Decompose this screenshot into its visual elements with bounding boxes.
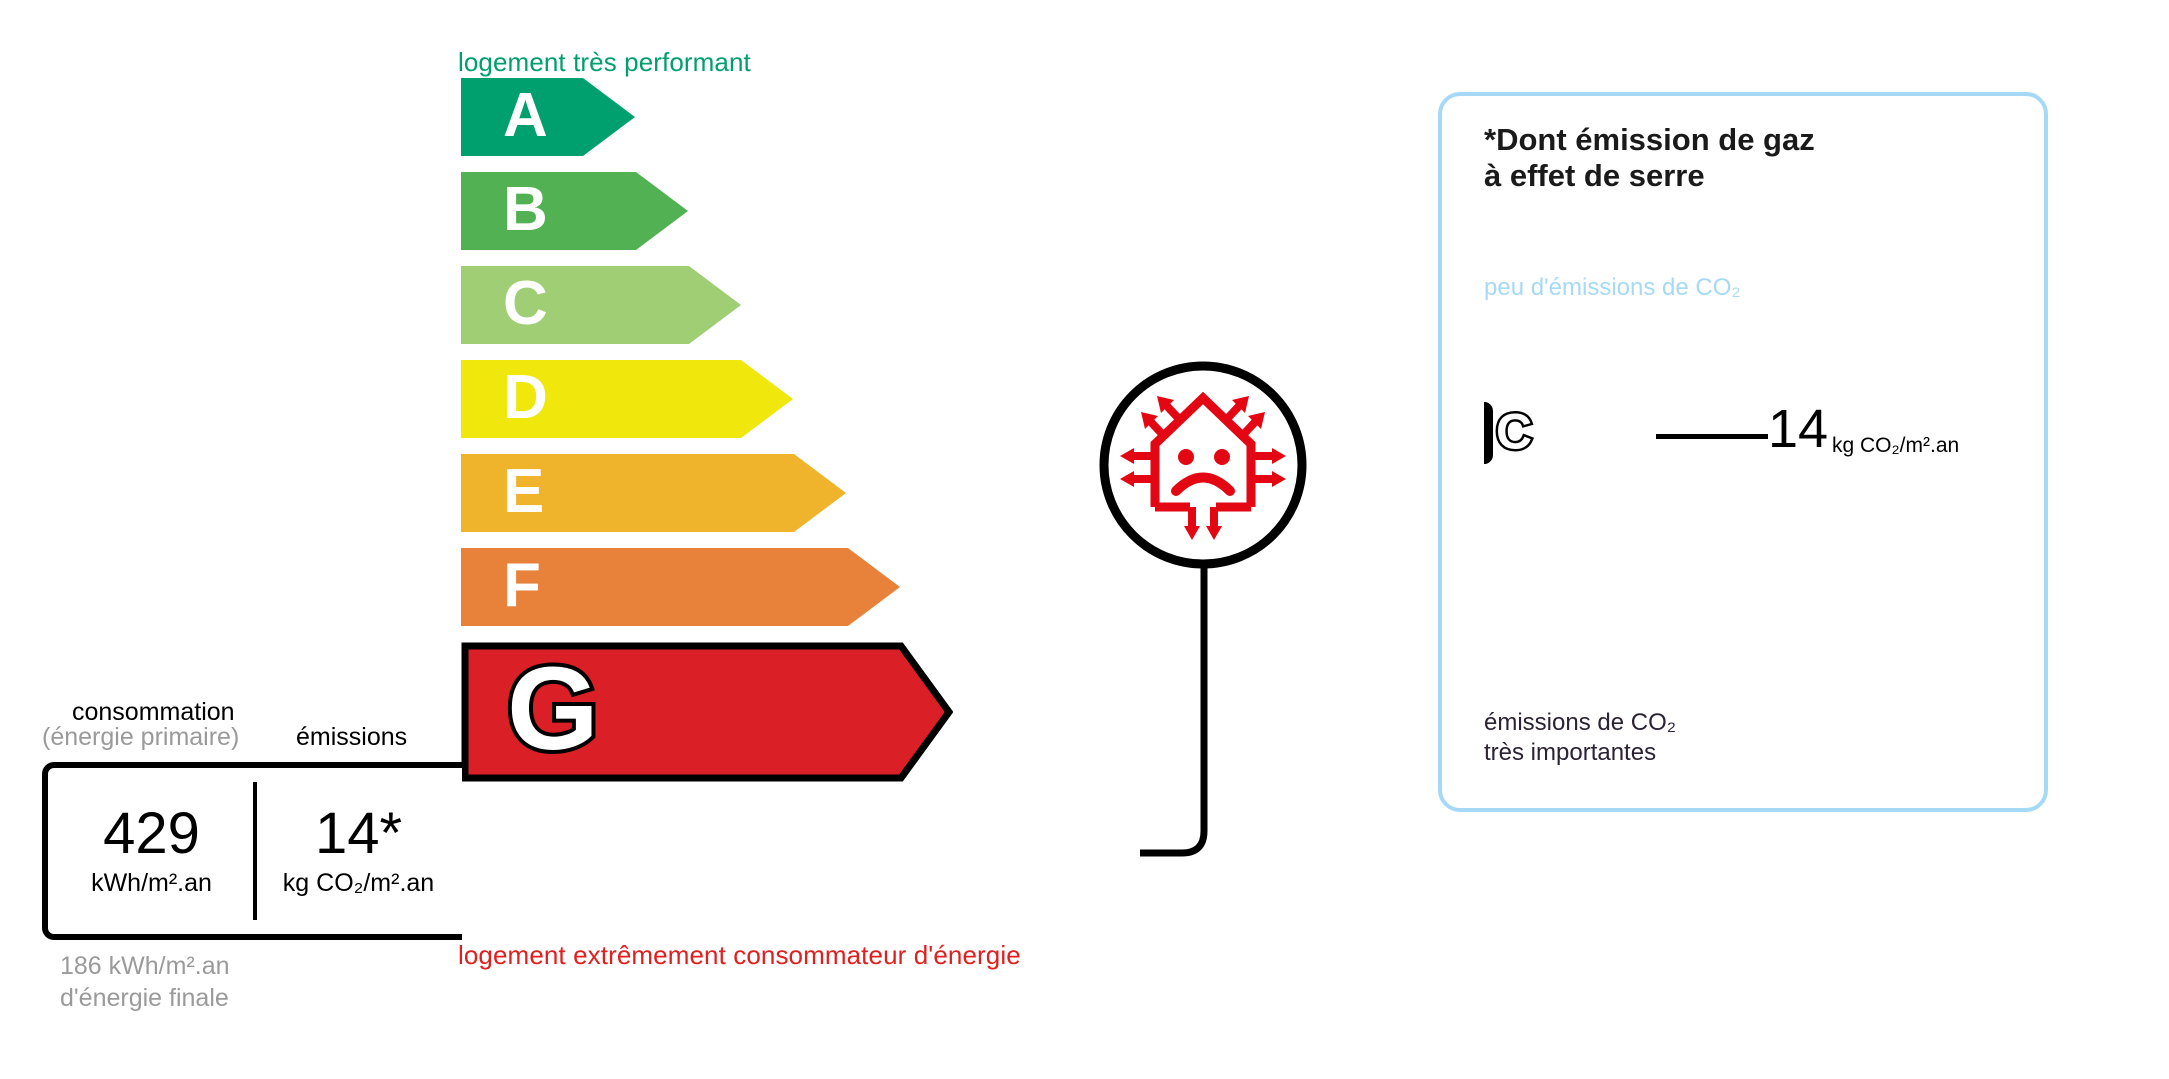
ghg-bar-g: G bbox=[1484, 612, 1814, 652]
emissions-header-label: émissions bbox=[296, 723, 407, 752]
ghg-value-unit: kg CO₂/m².an bbox=[1832, 434, 1959, 458]
ghg-panel-title: *Dont émission de gaz à effet de serre bbox=[1484, 122, 1815, 193]
ghg-bar-letter: B bbox=[1498, 359, 1520, 389]
final-energy-footnote-line2: d'énergie finale bbox=[60, 982, 230, 1014]
energy-bar-e: E bbox=[461, 454, 846, 532]
energy-bar-g: G bbox=[461, 642, 953, 782]
energy-bar-a: A bbox=[461, 78, 635, 156]
ghg-bar-letter: F bbox=[1498, 569, 1516, 599]
energy-bar-letter: G bbox=[507, 643, 599, 775]
energy-bar-d: D bbox=[461, 360, 793, 438]
energy-bar-letter: A bbox=[503, 85, 548, 147]
final-energy-footnote: 186 kWh/m².an d'énergie finale bbox=[60, 950, 230, 1014]
final-energy-footnote-line1: 186 kWh/m².an bbox=[60, 950, 230, 982]
emissions-value: 14* bbox=[315, 805, 402, 863]
primary-energy-cell: 429 kWh/m².an bbox=[48, 768, 255, 934]
ghg-bar-letter: D bbox=[1498, 475, 1520, 505]
scale-bottom-caption: logement extrêmement consommateur d'éner… bbox=[458, 940, 1021, 971]
ghg-bar-letter: E bbox=[1498, 522, 1518, 552]
energy-bar-letter: E bbox=[503, 461, 544, 523]
ghg-bar-d: D bbox=[1484, 471, 1716, 511]
ghg-leader-line bbox=[1656, 434, 1768, 439]
ghg-bottom-caption: émissions de CO₂ très importantes bbox=[1484, 708, 1676, 768]
primary-energy-unit: kWh/m².an bbox=[91, 869, 212, 898]
ghg-bar-f: F bbox=[1484, 565, 1784, 605]
energy-bar-letter: B bbox=[503, 179, 548, 241]
ghg-bar-letter: A bbox=[1498, 312, 1520, 342]
consumption-value-box: 429 kWh/m².an 14* kg CO₂/m².an bbox=[42, 762, 462, 940]
ghg-bar-e: E bbox=[1484, 518, 1752, 558]
energy-bar-shape bbox=[461, 78, 635, 156]
energy-bar-b: B bbox=[461, 172, 688, 250]
ghg-panel-title-line2: à effet de serre bbox=[1484, 158, 1815, 194]
ghg-top-caption: peu d'émissions de CO₂ bbox=[1484, 274, 1741, 302]
energy-bar-letter: F bbox=[503, 555, 541, 617]
ghg-bar-shape bbox=[1484, 402, 1493, 464]
ghg-value: 14 bbox=[1768, 402, 1828, 456]
ghg-bar-c: C bbox=[1484, 402, 1660, 464]
sad-house-heat-loss-icon bbox=[1098, 360, 1308, 570]
energy-bar-shape bbox=[461, 172, 688, 250]
energy-bar-f: F bbox=[461, 548, 900, 626]
ghg-bottom-caption-line2: très importantes bbox=[1484, 738, 1676, 768]
consumption-header-sublabel: (énergie primaire) bbox=[42, 723, 239, 752]
energy-bar-c: C bbox=[461, 266, 741, 344]
ghg-bar-b: B bbox=[1484, 355, 1622, 395]
energy-bar-letter: D bbox=[503, 367, 548, 429]
energy-bar-letter: C bbox=[503, 273, 548, 335]
badge-connector-line bbox=[1140, 545, 1290, 865]
ghg-bottom-caption-line1: émissions de CO₂ bbox=[1484, 708, 1676, 738]
emissions-cell: 14* kg CO₂/m².an bbox=[255, 768, 462, 934]
scale-top-caption: logement très performant bbox=[458, 47, 751, 78]
ghg-bar-a: A bbox=[1484, 308, 1589, 348]
primary-energy-value: 429 bbox=[103, 805, 200, 863]
ghg-bar-letter: C bbox=[1496, 407, 1532, 457]
emissions-unit: kg CO₂/m².an bbox=[283, 869, 434, 898]
ghg-panel-title-line1: *Dont émission de gaz bbox=[1484, 122, 1815, 158]
ghg-bar-letter: G bbox=[1498, 616, 1521, 646]
